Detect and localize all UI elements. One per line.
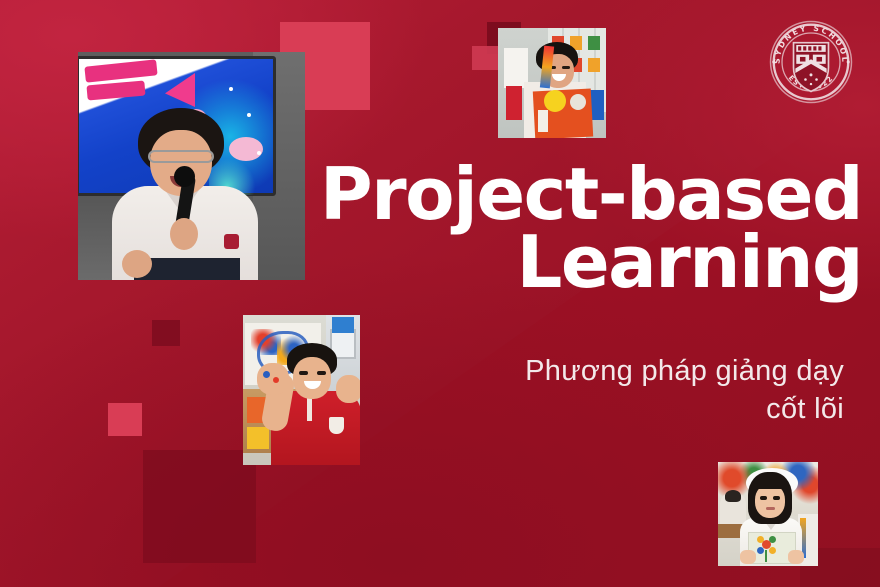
square-dark-bottom-left <box>143 450 256 563</box>
photo-girl-with-flower-card <box>718 462 818 566</box>
subtitle-line-2: cốt lõi <box>284 390 844 428</box>
square-dark-mid-left <box>152 320 180 346</box>
title-line-1: Project-based <box>0 160 862 228</box>
poster-subtitle: Phương pháp giảng dạy cốt lõi <box>284 352 844 429</box>
poster-canvas: SYDNEY SCHOOL EST. 2022 Project-based Le… <box>0 0 880 587</box>
title-line-2: Learning <box>0 228 862 296</box>
subtitle-line-1: Phương pháp giảng dạy <box>284 352 844 390</box>
square-pink-top-mid <box>472 46 498 70</box>
sydney-school-crest-logo: SYDNEY SCHOOL EST. 2022 <box>765 16 857 108</box>
square-pink-mid-left <box>108 403 142 436</box>
poster-title: Project-based Learning <box>0 160 862 297</box>
photo-boy-with-red-craft <box>498 28 606 138</box>
